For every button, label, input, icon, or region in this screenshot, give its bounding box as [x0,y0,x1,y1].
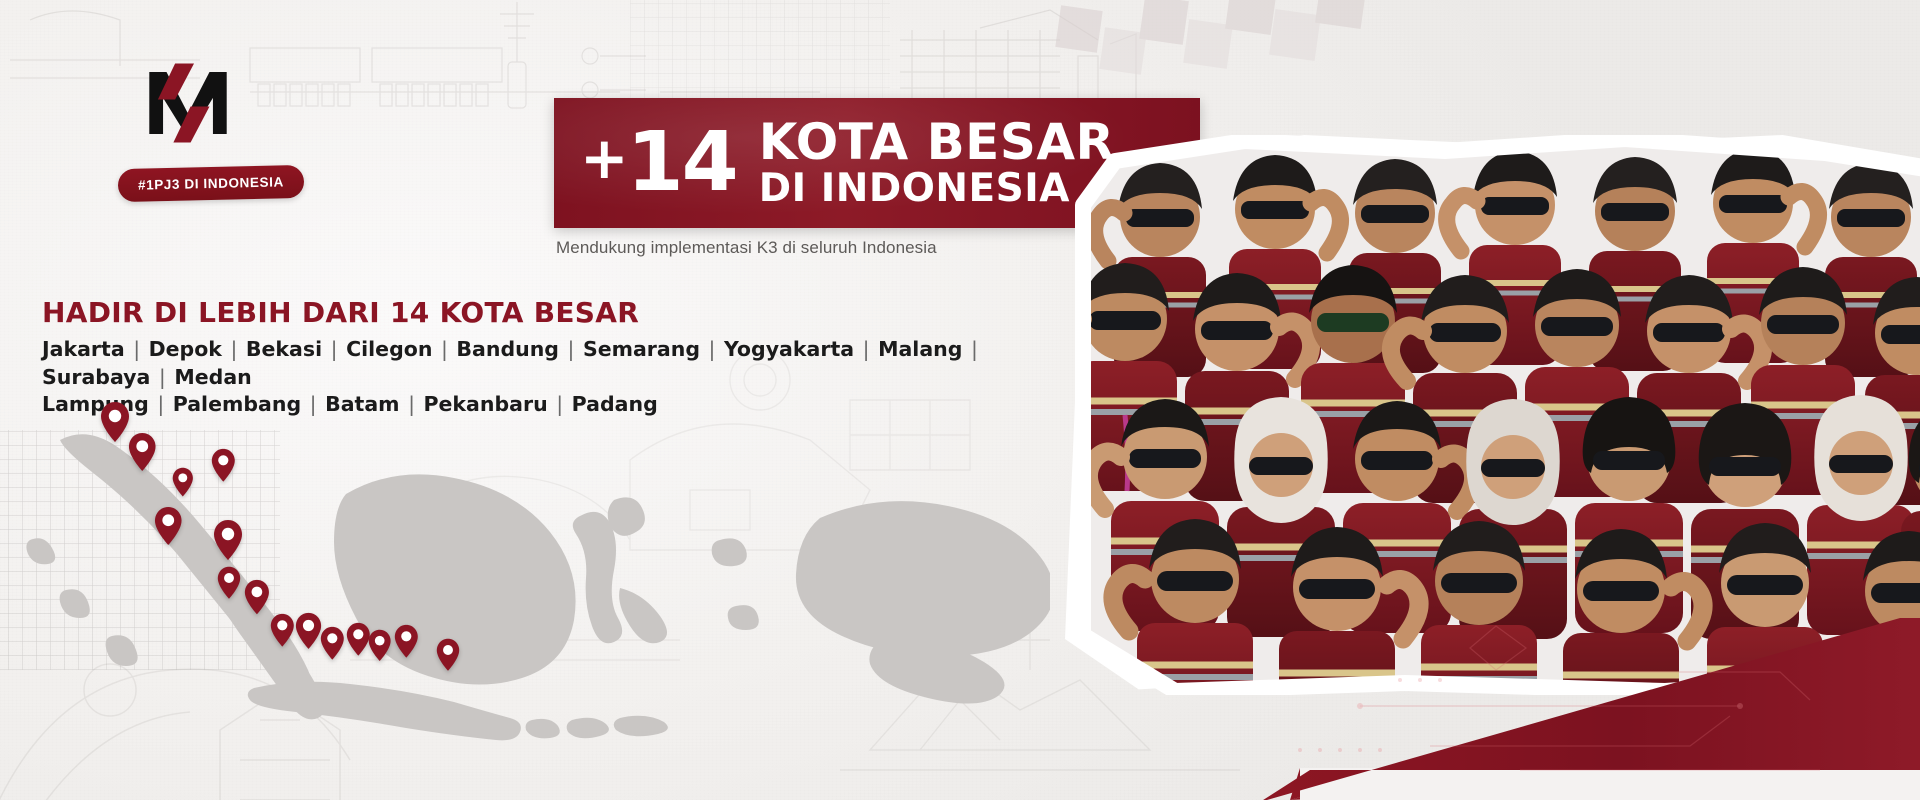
city-separator: | [559,337,583,361]
city-name: Pekanbaru [424,392,548,416]
map-pin-depok[interactable] [270,613,295,647]
map-pin-jakarta[interactable] [244,579,270,615]
headline-plus-sign: + [580,124,627,192]
map-pin-medan[interactable] [100,401,130,443]
headline-red-panel: +14 KOTA BESAR DI INDONESIA [554,98,1200,228]
brand-logo-block: #1PJ3 DI INDONESIA [118,60,348,200]
city-name: Padang [572,392,658,416]
headline-subtitle: Mendukung implementasi K3 di seluruh Ind… [556,238,937,258]
city-separator: | [432,337,456,361]
city-name: Bandung [456,337,559,361]
promo-banner: #1PJ3 DI INDONESIA +14 KOTA BESAR DI IND… [0,0,1920,800]
headline-text-block: KOTA BESAR DI INDONESIA [759,117,1115,210]
badge-1pj3-indonesia: #1PJ3 DI INDONESIA [118,165,305,202]
map-pin-lampung[interactable] [213,519,243,561]
city-name: Cilegon [346,337,432,361]
city-name: Bekasi [246,337,322,361]
city-name: Lampung [42,392,149,416]
city-separator: | [301,392,325,416]
cities-line: Lampung | Palembang | Batam | Pekanbaru … [42,391,1002,419]
city-name: Yogyakarta [724,337,854,361]
headline-number: 14 [627,115,737,210]
map-pin-yogyakarta[interactable] [368,629,391,662]
city-separator: | [962,337,979,361]
indonesia-map [20,420,1050,790]
cities-line: Jakarta | Depok | Bekasi | Cilegon | Ban… [42,336,1002,391]
city-separator: | [125,337,149,361]
city-name: Palembang [173,392,301,416]
headline-line-1: KOTA BESAR [759,117,1115,167]
map-pin-cilegon[interactable] [217,566,241,600]
city-name: Malang [878,337,962,361]
team-photo-illustration [1065,135,1920,695]
city-name: Surabaya [42,365,150,389]
city-separator: | [222,337,246,361]
team-photo [1065,135,1920,695]
map-pin-surabaya[interactable] [436,638,460,672]
map-pin-padang[interactable] [211,448,236,482]
map-pin-palembang[interactable] [154,506,183,546]
map-pin-pekanbaru[interactable] [128,432,157,472]
city-separator: | [548,392,572,416]
cities-section-title: HADIR DI LEBIH DARI 14 KOTA BESAR [42,296,639,329]
city-name: Depok [149,337,222,361]
city-separator: | [150,365,174,389]
map-pin-bandung[interactable] [320,626,345,660]
city-separator: | [854,337,878,361]
map-pin-batam[interactable] [172,467,194,497]
city-separator: | [400,392,424,416]
city-separator: | [700,337,724,361]
headline-count: +14 [580,126,737,200]
city-name: Jakarta [42,337,125,361]
city-name: Medan [174,365,251,389]
map-pin-bekasi[interactable] [295,612,322,650]
city-separator: | [322,337,346,361]
city-name: Batam [325,392,399,416]
city-separator: | [149,392,173,416]
company-logo-icon [140,60,236,146]
map-pin-malang[interactable] [394,624,419,658]
map-pin-semarang[interactable] [346,622,371,656]
headline-line-2: DI INDONESIA [759,169,1115,210]
cities-list: Jakarta | Depok | Bekasi | Cilegon | Ban… [42,336,1002,419]
city-name: Semarang [583,337,700,361]
